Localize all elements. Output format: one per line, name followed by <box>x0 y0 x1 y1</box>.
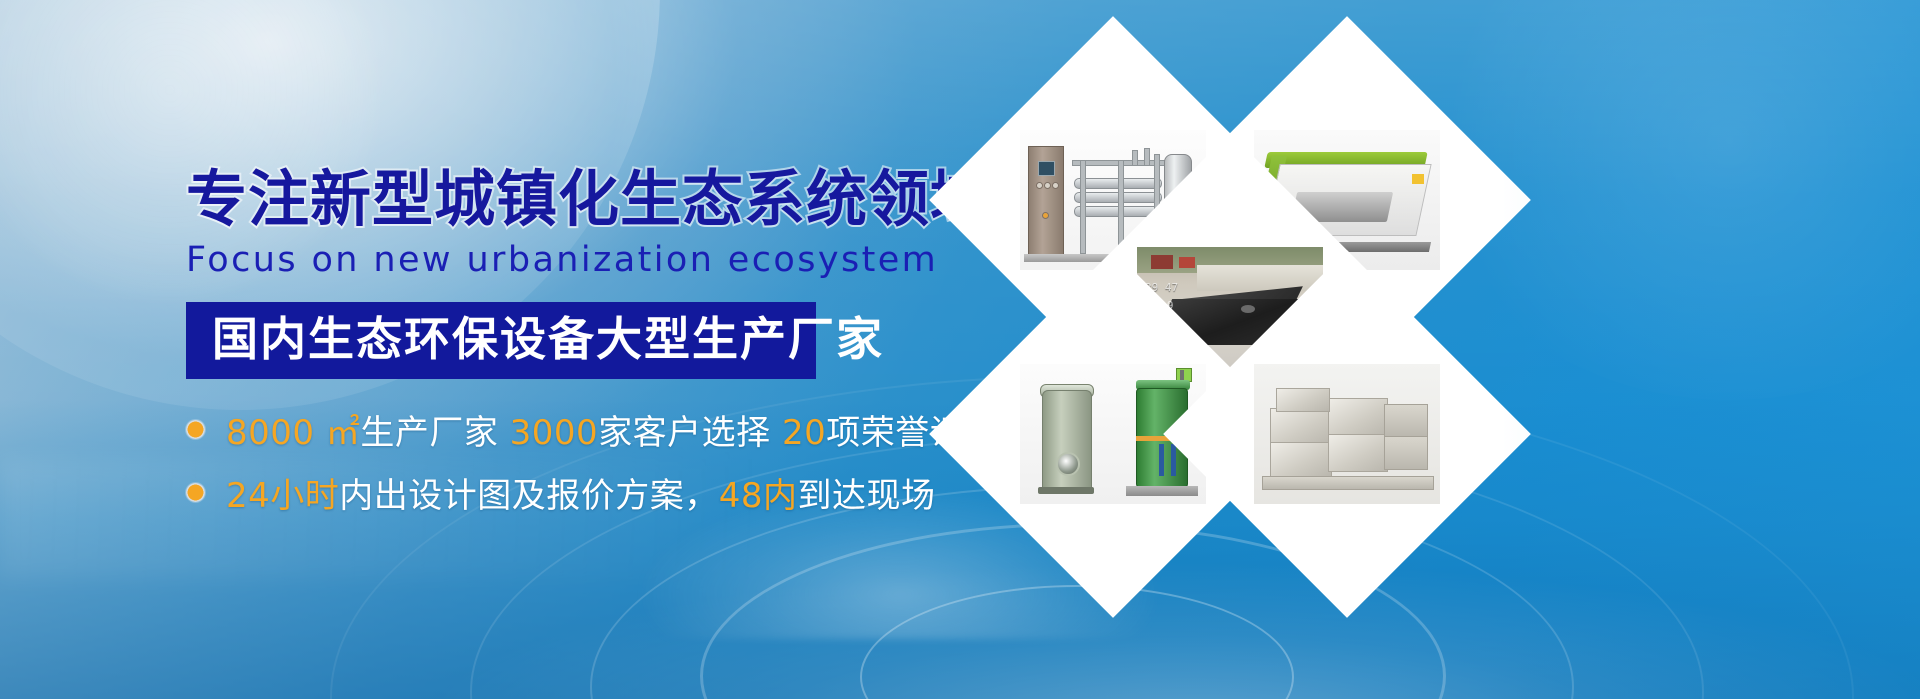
bullet-plain-text: 家客户选择 <box>598 413 782 453</box>
promo-banner: 专注新型城镇化生态系统领域 Focus on new urbanization … <box>0 0 1920 699</box>
bullet-dot-icon <box>186 420 205 439</box>
bullet-plain-text: 内出设计图及报价方案， <box>339 476 719 516</box>
banner-copy-block: 专注新型城镇化生态系统领域 Focus on new urbanization … <box>186 168 946 531</box>
product-diamond-grid: 39 47 16 9 2020-07-21 <box>905 40 1915 660</box>
bullet-plain-text: 生产厂家 <box>360 413 509 453</box>
list-item: 8000 ㎡生产厂家 3000家客户选择 20项荣誉证书 <box>186 405 946 454</box>
bullet-dot-icon <box>186 483 205 502</box>
photo-stacked-concrete-blocks <box>1254 364 1440 504</box>
feature-bullet-list: 8000 ㎡生产厂家 3000家客户选择 20项荣誉证书 24小时内出设计图及报… <box>186 405 946 517</box>
bullet-highlight-text: 3000 <box>510 413 599 453</box>
bullet-highlight-text: 24小时 <box>226 476 339 516</box>
bullet-highlight-text: 48内 <box>719 476 798 516</box>
headline-chinese: 专注新型城镇化生态系统领域 <box>186 168 946 232</box>
bullet-highlight-text: 20 <box>782 413 826 453</box>
list-item: 24小时内出设计图及报价方案，48内到达现场 <box>186 468 946 517</box>
highlight-banner-box: 国内生态环保设备大型生产厂家 <box>186 302 816 380</box>
subheadline-english: Focus on new urbanization ecosystem <box>186 241 946 280</box>
bullet-highlight-text: 8000 ㎡ <box>226 413 360 453</box>
bullet-text: 8000 ㎡生产厂家 3000家客户选择 20项荣誉证书 <box>226 405 999 454</box>
highlight-banner-text: 国内生态环保设备大型生产厂家 <box>212 315 790 365</box>
bullet-text: 24小时内出设计图及报价方案，48内到达现场 <box>226 468 936 517</box>
